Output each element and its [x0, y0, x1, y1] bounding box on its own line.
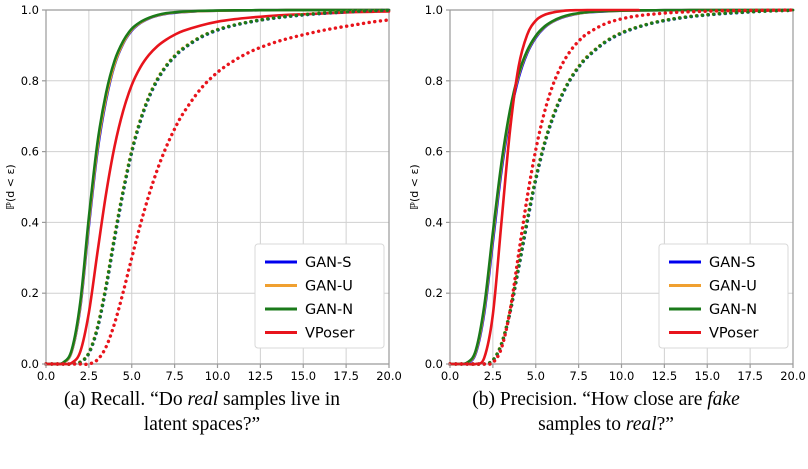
ytick-label-4: 0.8 [21, 74, 39, 88]
xtick-label-5: 12.5 [652, 369, 678, 383]
caption-b-prefix: (b) [472, 389, 495, 410]
xtick-label-4: 10.0 [205, 369, 231, 383]
caption-a-line1: (a) Recall. “Do real samples live in [10, 388, 394, 413]
caption-b-emphasis-fake: fake [707, 389, 739, 410]
figure-root: 0.02.55.07.510.012.515.017.520.00.00.20.… [0, 0, 808, 469]
xtick-label-4: 10.0 [609, 369, 635, 383]
xtick-label-8: 20.0 [376, 369, 402, 383]
legend-label-gan-u: GAN-U [305, 279, 353, 295]
caption-b-line2-pre: samples to [538, 414, 626, 435]
caption-b-emphasis-real: real [626, 414, 657, 435]
ytick-label-2: 0.4 [425, 215, 443, 229]
ytick-label-3: 0.6 [21, 145, 39, 159]
caption-b-line1-pre: “How close are [577, 389, 707, 410]
caption-a-line2: latent spaces?” [10, 413, 394, 438]
panel-row: 0.02.55.07.510.012.515.017.520.00.00.20.… [0, 0, 808, 390]
xtick-label-3: 7.5 [569, 369, 587, 383]
chart-a: 0.02.55.07.510.012.515.017.520.00.00.20.… [0, 0, 404, 390]
caption-b-line1: (b) Precision. “How close are fake [414, 388, 798, 413]
xtick-label-1: 2.5 [484, 369, 502, 383]
xtick-label-7: 17.5 [333, 369, 359, 383]
xtick-label-2: 5.0 [123, 369, 141, 383]
xtick-label-8: 20.0 [780, 369, 806, 383]
chart-b: 0.02.55.07.510.012.515.017.520.00.00.20.… [404, 0, 808, 390]
legend-label-vposer: VPoser [709, 326, 758, 342]
ytick-label-0: 0.0 [425, 357, 443, 371]
panel-a: 0.02.55.07.510.012.515.017.520.00.00.20.… [0, 0, 404, 390]
y-axis-label: ℙ(d < ε) [4, 164, 17, 209]
ytick-label-0: 0.0 [21, 357, 39, 371]
ytick-label-1: 0.2 [425, 286, 443, 300]
caption-a-prefix: (a) [64, 389, 86, 410]
caption-a-emphasis: real [187, 389, 218, 410]
xtick-label-6: 15.0 [694, 369, 720, 383]
caption-b-line2-post: ?” [657, 414, 674, 435]
ytick-label-3: 0.6 [425, 145, 443, 159]
legend-label-vposer: VPoser [305, 326, 354, 342]
legend: GAN-SGAN-UGAN-NVPoser [255, 244, 384, 348]
ytick-label-2: 0.4 [21, 215, 39, 229]
legend: GAN-SGAN-UGAN-NVPoser [659, 244, 788, 348]
legend-label-gan-s: GAN-S [709, 255, 755, 271]
xtick-label-6: 15.0 [290, 369, 316, 383]
xtick-label-2: 5.0 [527, 369, 545, 383]
ytick-label-1: 0.2 [21, 286, 39, 300]
xtick-label-5: 12.5 [248, 369, 274, 383]
caption-a-line1-pre: “Do [145, 389, 187, 410]
ytick-label-5: 1.0 [21, 3, 39, 17]
panel-b: 0.02.55.07.510.012.515.017.520.00.00.20.… [404, 0, 808, 390]
legend-label-gan-n: GAN-N [709, 302, 757, 318]
xtick-label-7: 17.5 [737, 369, 763, 383]
caption-a-name: Recall. [91, 389, 146, 410]
ytick-label-5: 1.0 [425, 3, 443, 17]
legend-label-gan-s: GAN-S [305, 255, 351, 271]
legend-label-gan-u: GAN-U [709, 279, 757, 295]
caption-a-line1-post: samples live in [218, 389, 340, 410]
caption-a: (a) Recall. “Do real samples live in lat… [0, 388, 404, 438]
xtick-label-3: 7.5 [165, 369, 183, 383]
y-axis-label: ℙ(d < ε) [408, 164, 421, 209]
xtick-label-0: 0.0 [441, 369, 459, 383]
caption-b: (b) Precision. “How close are fake sampl… [404, 388, 808, 438]
caption-b-line2: samples to real?” [414, 413, 798, 438]
caption-row: (a) Recall. “Do real samples live in lat… [0, 388, 808, 438]
legend-label-gan-n: GAN-N [305, 302, 353, 318]
xtick-label-1: 2.5 [80, 369, 98, 383]
caption-b-name: Precision. [500, 389, 577, 410]
xtick-label-0: 0.0 [37, 369, 55, 383]
ytick-label-4: 0.8 [425, 74, 443, 88]
